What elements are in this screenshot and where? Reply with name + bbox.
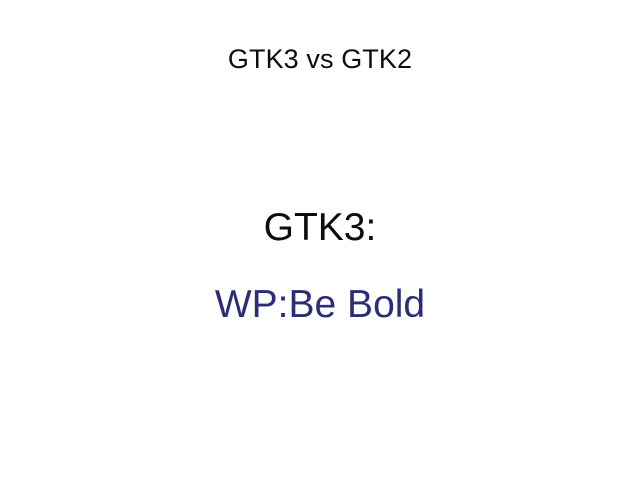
slide-title: GTK3 vs GTK2 bbox=[0, 43, 640, 75]
wp-be-bold-link[interactable]: WP:Be Bold bbox=[215, 283, 425, 326]
body-heading: GTK3: bbox=[0, 205, 640, 251]
slide-body: GTK3: WP:Be Bold bbox=[0, 205, 640, 328]
presentation-slide: GTK3 vs GTK2 GTK3: WP:Be Bold bbox=[0, 0, 640, 480]
body-link-row: WP:Be Bold bbox=[0, 282, 640, 328]
body-spacer bbox=[0, 251, 640, 282]
